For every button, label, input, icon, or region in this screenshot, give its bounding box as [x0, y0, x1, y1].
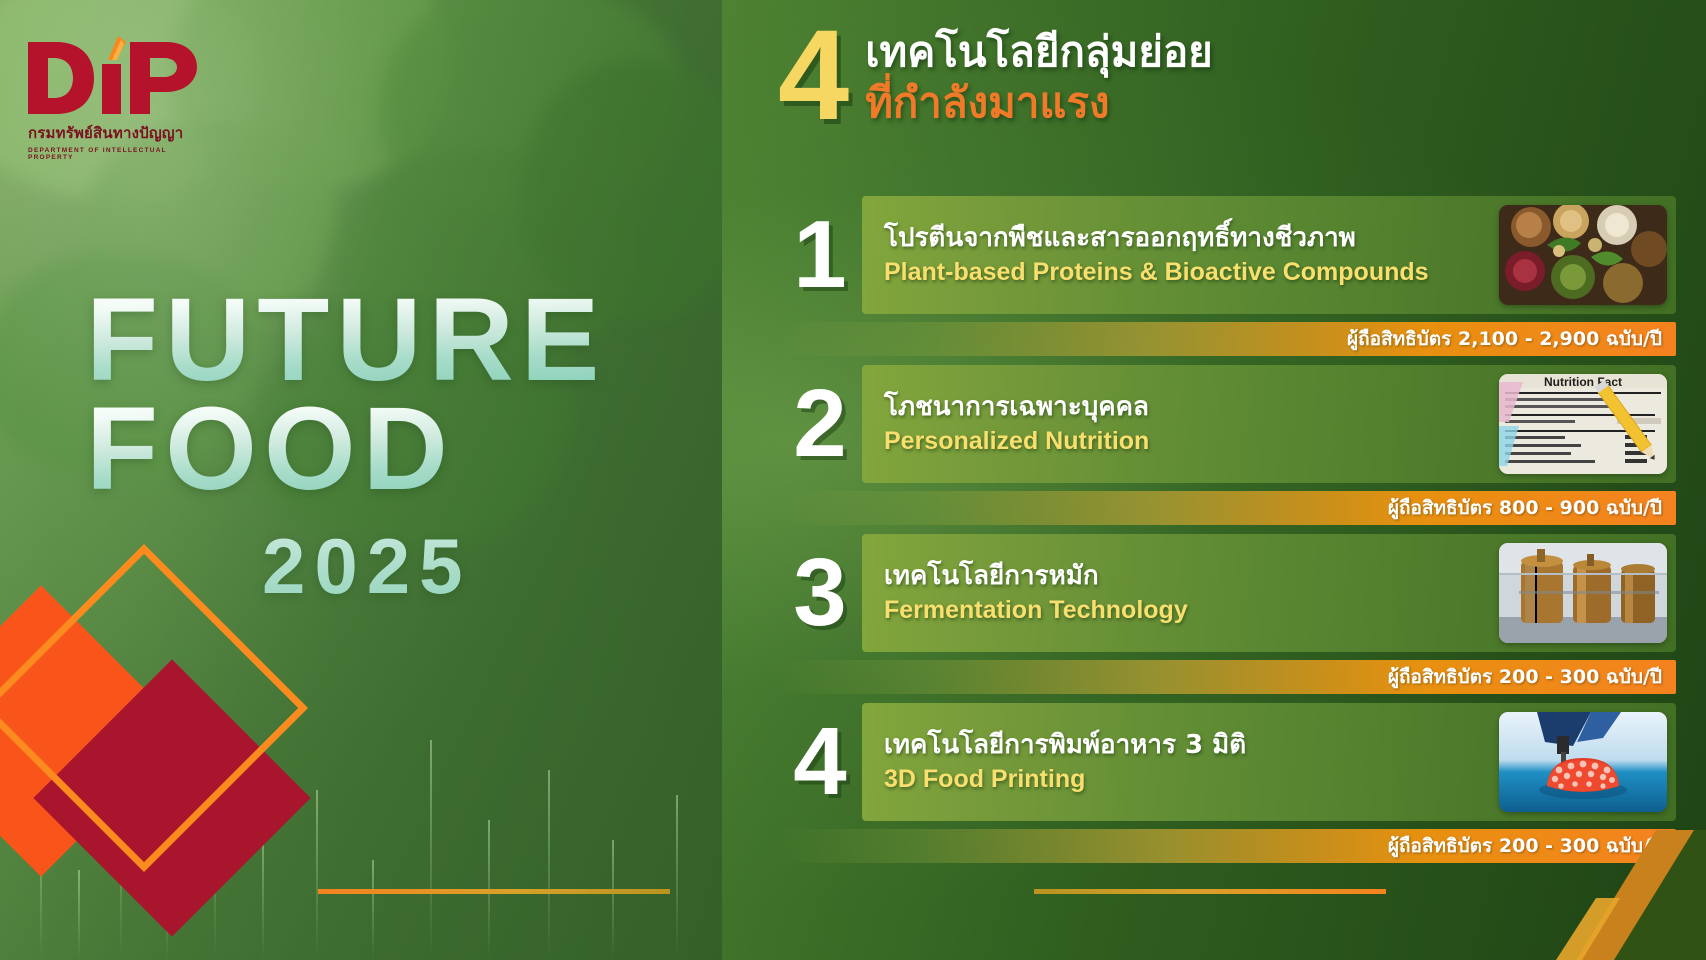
- dip-logo-subtitle-en: DEPARTMENT OF INTELLECTUAL PROPERTY: [22, 147, 212, 161]
- bottom-accent-strip-left: [318, 889, 670, 894]
- technology-card[interactable]: 1 โปรตีนจากพืชและสารออกฤทธิ์ทางชีวภาพ Pl…: [862, 196, 1676, 314]
- card-wrapper: 1 โปรตีนจากพืชและสารออกฤทธิ์ทางชีวภาพ Pl…: [778, 196, 1676, 356]
- dip-logo: กรมทรัพย์สินทางปัญญา DEPARTMENT OF INTEL…: [22, 34, 212, 161]
- card-title-th: เทคโนโลยีการหมัก: [884, 561, 1499, 593]
- nutrition-facts-photo: Nutrition Fact: [1499, 374, 1667, 474]
- hero-wordmark: FUTURE FOOD 2025: [86, 286, 686, 612]
- dip-logo-icon: [22, 34, 212, 120]
- technology-card[interactable]: 2 โภชนาการเฉพาะบุคคล Personalized Nutrit…: [862, 365, 1676, 483]
- patent-count-bar: ผู้ถือสิทธิบัตร 2,100 - 2,900 ฉบับ/ปี: [778, 322, 1676, 356]
- svg-text:Nutrition Fact: Nutrition Fact: [1544, 375, 1622, 389]
- right-content-panel: 4 เทคโนโลยีกลุ่มย่อย ที่กำลังมาแรง 1 โปร…: [722, 0, 1706, 960]
- hero-line-food: FOOD: [86, 395, 686, 504]
- header-title-block: เทคโนโลยีกลุ่มย่อย ที่กำลังมาแรง: [865, 28, 1213, 126]
- patent-count-text: ผู้ถือสิทธิบัตร 2,100 - 2,900 ฉบับ/ปี: [1347, 324, 1662, 354]
- card-text-block: โปรตีนจากพืชและสารออกฤทธิ์ทางชีวภาพ Plan…: [862, 223, 1499, 288]
- card-text-block: เทคโนโลยีการพิมพ์อาหาร 3 มิติ 3D Food Pr…: [862, 730, 1499, 795]
- card-number: 4: [778, 714, 862, 810]
- left-hero-panel: กรมทรัพย์สินทางปัญญา DEPARTMENT OF INTEL…: [0, 0, 722, 960]
- patent-count-text: ผู้ถือสิทธิบัตร 800 - 900 ฉบับ/ปี: [1388, 493, 1662, 523]
- header-count: 4: [778, 22, 849, 130]
- card-text-block: โภชนาการเฉพาะบุคคล Personalized Nutritio…: [862, 392, 1499, 457]
- card-title-th: โปรตีนจากพืชและสารออกฤทธิ์ทางชีวภาพ: [884, 223, 1499, 255]
- card-title-en: Plant-based Proteins & Bioactive Compoun…: [884, 257, 1499, 287]
- card-number: 3: [778, 545, 862, 641]
- hero-line-future: FUTURE: [86, 286, 686, 395]
- card-text-block: เทคโนโลยีการหมัก Fermentation Technology: [862, 561, 1499, 626]
- dip-logo-mark: [22, 34, 212, 120]
- header-title-line1: เทคโนโลยีกลุ่มย่อย: [865, 28, 1213, 75]
- hero-year: 2025: [262, 521, 686, 612]
- section-header: 4 เทคโนโลยีกลุ่มย่อย ที่กำลังมาแรง: [778, 28, 1213, 130]
- card-number: 2: [778, 376, 862, 472]
- card-wrapper: 2 โภชนาการเฉพาะบุคคล Personalized Nutrit…: [778, 365, 1676, 525]
- infographic-canvas: กรมทรัพย์สินทางปัญญา DEPARTMENT OF INTEL…: [0, 0, 1706, 960]
- card-title-en: Personalized Nutrition: [884, 426, 1499, 456]
- plant-proteins-photo: [1499, 205, 1667, 305]
- card-title-th: โภชนาการเฉพาะบุคคล: [884, 392, 1499, 424]
- header-title-line2: ที่กำลังมาแรง: [865, 79, 1213, 126]
- card-number: 1: [778, 207, 862, 303]
- bottom-accent-strip-right: [1034, 889, 1386, 894]
- decor-ribbons: [1406, 600, 1706, 960]
- dip-logo-subtitle-th: กรมทรัพย์สินทางปัญญา: [22, 121, 212, 145]
- patent-count-bar: ผู้ถือสิทธิบัตร 800 - 900 ฉบับ/ปี: [778, 491, 1676, 525]
